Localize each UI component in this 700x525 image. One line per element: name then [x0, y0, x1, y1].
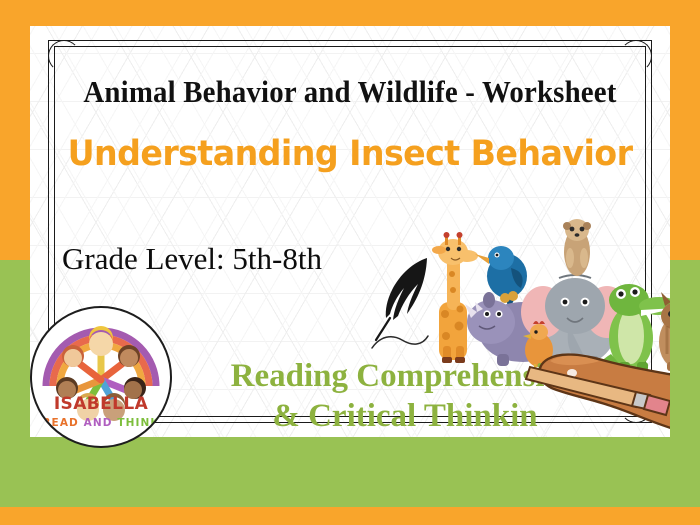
- border-band-right-orange: [670, 0, 700, 262]
- page-title: Understanding Insect Behavior: [46, 134, 654, 174]
- logo-tagline-word-3: THINK: [117, 417, 159, 429]
- hand-holding-pencil-illustration: [524, 301, 670, 431]
- border-band-top: [0, 0, 700, 26]
- border-band-bottom-orange: [0, 507, 700, 525]
- grade-level-label: Grade Level: 5th-8th: [62, 241, 322, 277]
- giraffe-illustration: [431, 232, 478, 367]
- meerkat-illustration: [563, 219, 591, 276]
- avatar[interactable]: ISABELLA READ AND THINK: [30, 306, 172, 448]
- border-band-left-orange: [0, 0, 30, 262]
- subject-title: Animal Behavior and Wildlife - Worksheet: [52, 74, 647, 110]
- logo-name: ISABELLA: [32, 394, 170, 414]
- logo-tagline-word-2: AND: [84, 417, 113, 429]
- logo-tagline-word-1: READ: [42, 417, 79, 429]
- logo-tagline: READ AND THINK: [32, 417, 170, 429]
- worksheet-cover: Animal Behavior and Wildlife - Worksheet…: [0, 0, 700, 525]
